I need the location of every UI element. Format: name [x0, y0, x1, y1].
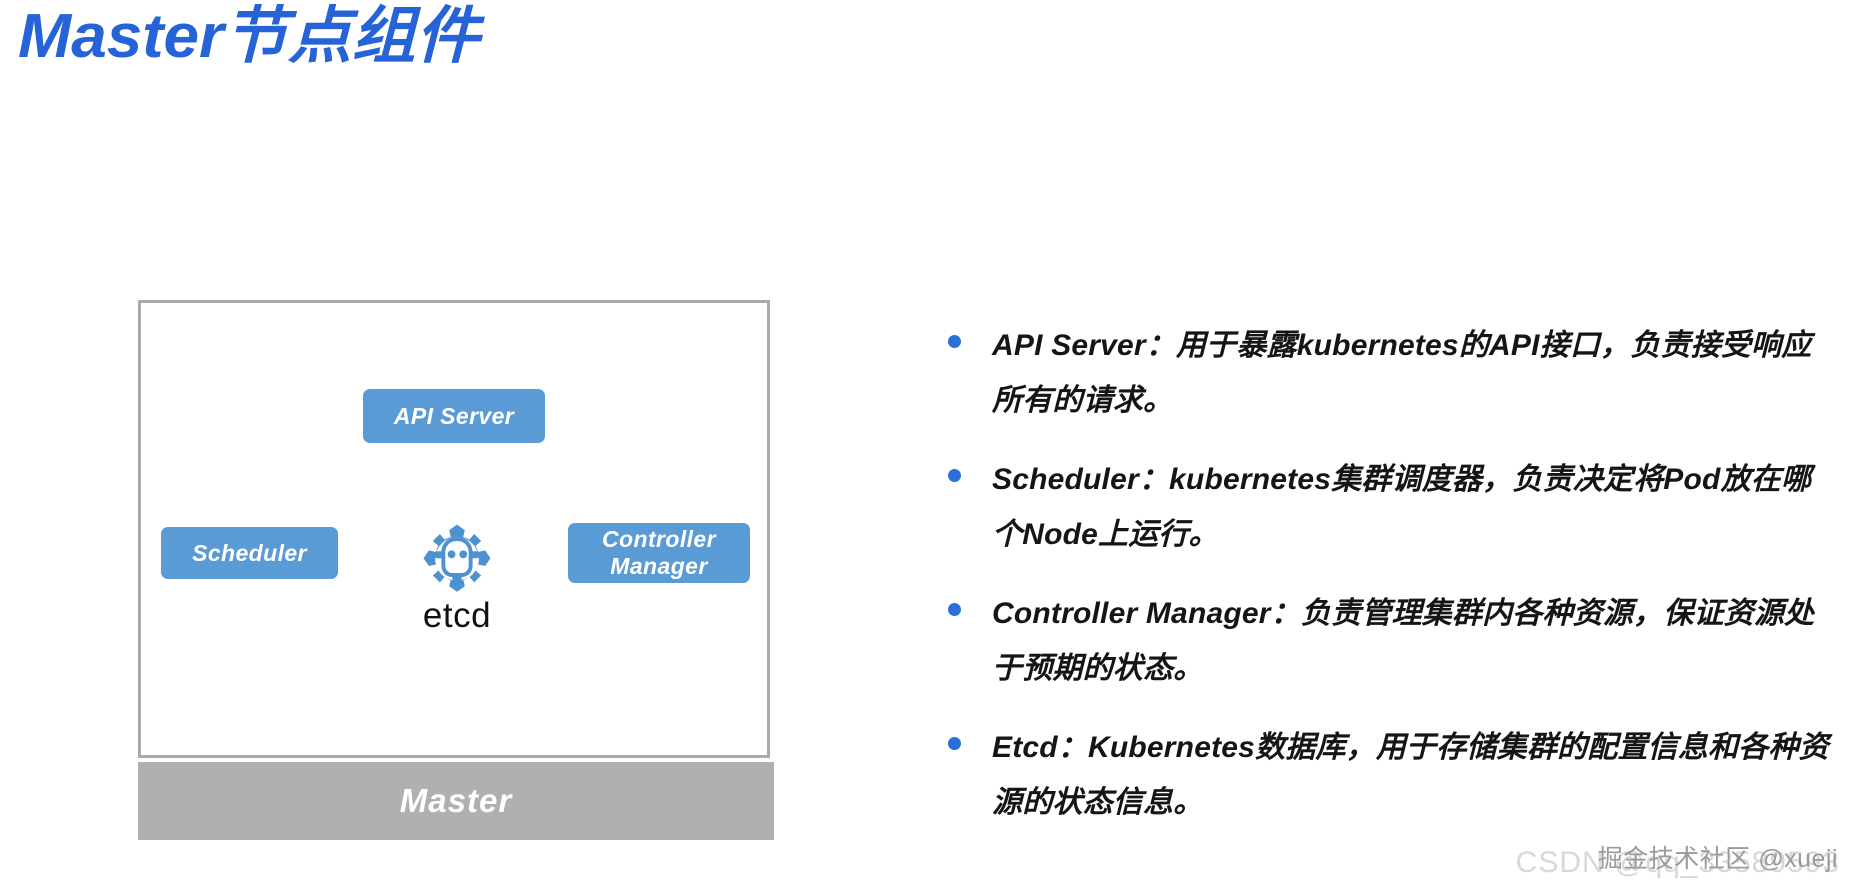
- node-box-controller-manager-line1: Controller: [602, 526, 716, 552]
- watermark-juejin: 掘金技术社区 @xueji: [1598, 844, 1838, 874]
- master-node-diagram: API Server Scheduler Controller Manager: [138, 300, 774, 840]
- component-description-list: API Server：用于暴露kubernetes的API接口，负责接受响应所有…: [940, 318, 1830, 854]
- list-item: Scheduler：kubernetes集群调度器，负责决定将Pod放在哪个No…: [940, 452, 1830, 562]
- bullet-dot-icon: [948, 469, 961, 482]
- master-footer-bar: Master: [138, 762, 774, 840]
- node-box-scheduler[interactable]: Scheduler: [161, 527, 338, 579]
- etcd-logo-group[interactable]: etcd: [389, 520, 525, 640]
- node-box-controller-manager[interactable]: Controller Manager: [568, 523, 750, 583]
- list-item-text-scheduler: Scheduler：kubernetes集群调度器，负责决定将Pod放在哪个No…: [992, 452, 1830, 562]
- node-box-controller-manager-line2: Manager: [610, 553, 707, 579]
- node-box-api-server[interactable]: API Server: [363, 389, 545, 443]
- master-footer-label: Master: [400, 782, 512, 820]
- etcd-label: etcd: [423, 596, 491, 636]
- list-item-text-api-server: API Server：用于暴露kubernetes的API接口，负责接受响应所有…: [992, 318, 1830, 428]
- list-item: API Server：用于暴露kubernetes的API接口，负责接受响应所有…: [940, 318, 1830, 428]
- master-frame: API Server Scheduler Controller Manager: [138, 300, 770, 758]
- bullet-dot-icon: [948, 603, 961, 616]
- list-item: Etcd：Kubernetes数据库，用于存储集群的配置信息和各种资源的状态信息…: [940, 720, 1830, 830]
- list-item-text-controller-manager: Controller Manager：负责管理集群内各种资源，保证资源处于预期的…: [992, 586, 1830, 696]
- page-title: Master节点组件: [18, 0, 479, 76]
- list-item: Controller Manager：负责管理集群内各种资源，保证资源处于预期的…: [940, 586, 1830, 696]
- list-item-text-etcd: Etcd：Kubernetes数据库，用于存储集群的配置信息和各种资源的状态信息…: [992, 720, 1830, 830]
- bullet-dot-icon: [948, 737, 961, 750]
- etcd-gear-robot-icon: [418, 520, 496, 598]
- bullet-dot-icon: [948, 335, 961, 348]
